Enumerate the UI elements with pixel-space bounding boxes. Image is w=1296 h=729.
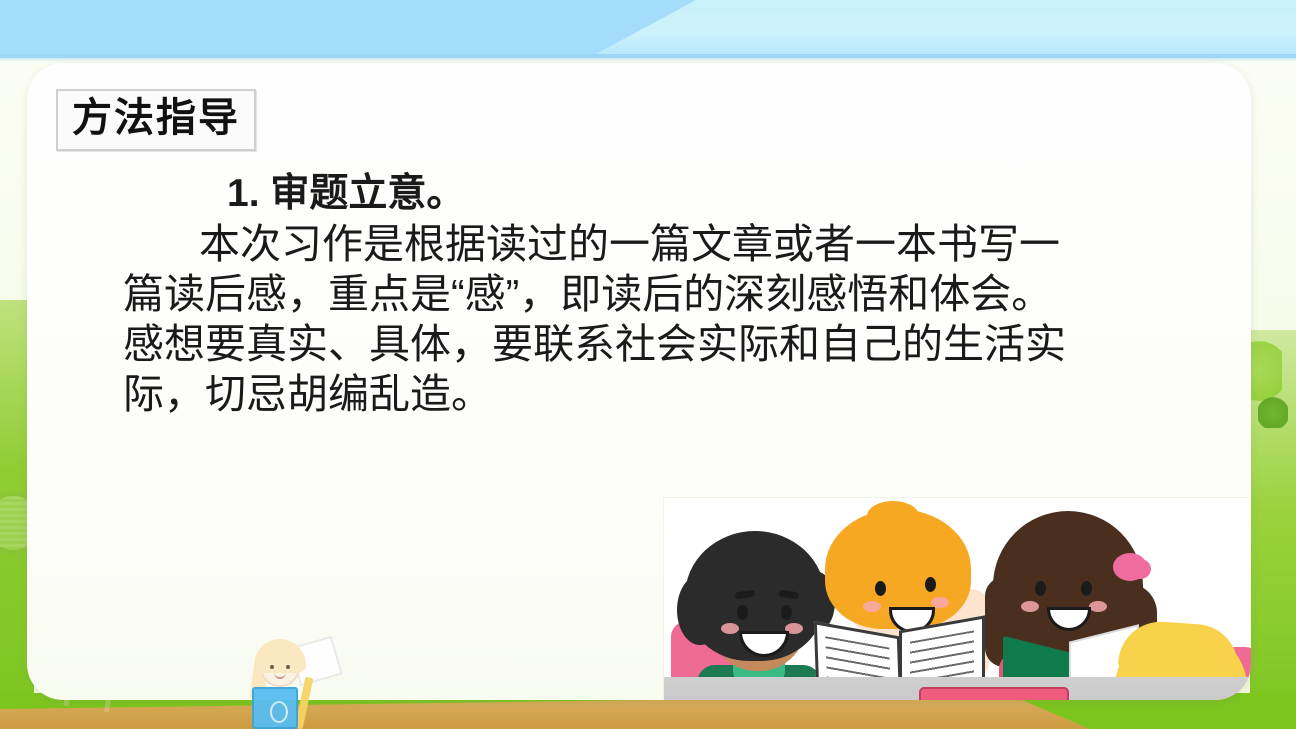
child1-eye [737, 605, 748, 620]
pencil-girl-decoration [238, 633, 334, 729]
tree-shadow-icon [1258, 392, 1288, 428]
child2-hair-swirl [867, 501, 919, 531]
child3-fringe [1003, 531, 1123, 583]
child3-cheek [1089, 601, 1107, 612]
pencil-girl-eye [286, 665, 290, 669]
body-line-1: 本次习作是根据读过的一篇文章或者一本书写一 [123, 219, 1183, 269]
body-line-4: 际，切忌胡编乱造。 [123, 369, 1183, 419]
slide-canvas: 方法指导 1. 审题立意。 本次习作是根据读过的一篇文章或者一本书写一 篇读后感… [0, 0, 1296, 729]
content-card-inner: 方法指导 1. 审题立意。 本次习作是根据读过的一篇文章或者一本书写一 篇读后感… [27, 63, 1251, 700]
book-stack-top [919, 687, 1069, 700]
child3-eye [1035, 581, 1046, 596]
top-band-shadow [0, 54, 1296, 62]
top-blue-light-wedge [596, 0, 1296, 54]
body-line-heading: 1. 审题立意。 [123, 169, 1183, 219]
child1-cheek [721, 623, 739, 634]
children-reading-illustration [663, 497, 1251, 700]
content-card: 方法指导 1. 审题立意。 本次习作是根据读过的一篇文章或者一本书写一 篇读后感… [27, 63, 1251, 700]
hair-bow-icon [1129, 559, 1151, 579]
section-title-text: 方法指导 [72, 96, 240, 140]
body-line-2: 篇读后感，重点是“感”，即读后的深刻感悟和体会。 [123, 269, 1183, 319]
child2-eye [925, 577, 936, 592]
section-title-chip: 方法指导 [56, 89, 256, 151]
child2-eye [875, 581, 886, 596]
child1-eye [781, 605, 792, 620]
child2-cheek [863, 601, 881, 612]
pencil-girl-book [252, 687, 298, 729]
child3-eye [1081, 581, 1092, 596]
lesson-body-text: 1. 审题立意。 本次习作是根据读过的一篇文章或者一本书写一 篇读后感，重点是“… [123, 169, 1183, 419]
body-line-3: 感想要真实、具体，要联系社会实际和自己的生活实 [123, 319, 1183, 369]
pencil-girl-eye [270, 665, 274, 669]
child3-cheek [1021, 601, 1039, 612]
